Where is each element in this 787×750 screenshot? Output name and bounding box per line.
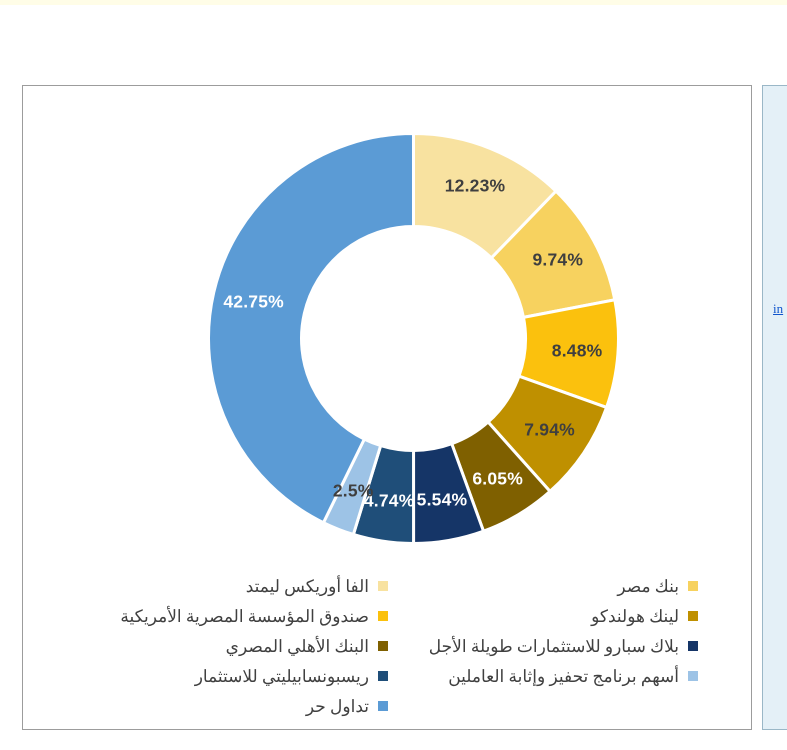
legend-item[interactable]: بلاك سبارو للاستثمارات طويلة الأجل	[408, 631, 698, 661]
legend-item[interactable]: لينك هولندكو	[408, 601, 698, 631]
legend-item-label: تداول حر	[306, 698, 369, 715]
legend-item-label: أسهم برنامج تحفيز وإثابة العاملين	[448, 668, 679, 685]
legend-swatch-icon	[688, 581, 698, 591]
legend-swatch-icon	[378, 581, 388, 591]
top-strip	[0, 0, 787, 5]
legend-item-label: البنك الأهلي المصري	[226, 638, 369, 655]
legend-item[interactable]: البنك الأهلي المصري	[78, 631, 388, 661]
legend-item-label: لينك هولندكو	[591, 608, 679, 625]
legend-item[interactable]: ريسبونسابيليتي للاستثمار	[78, 661, 388, 691]
chart-card: 12.23%9.74%8.48%7.94%6.05%5.54%4.74%2.5%…	[22, 85, 752, 730]
legend-swatch-icon	[688, 671, 698, 681]
legend-item-label: ريسبونسابيليتي للاستثمار	[195, 668, 369, 685]
legend-swatch-icon	[378, 671, 388, 681]
legend-swatch-icon	[378, 641, 388, 651]
donut-svg	[206, 131, 621, 546]
legend-item[interactable]: صندوق المؤسسة المصرية الأمريكية	[78, 601, 388, 631]
legend-swatch-icon	[688, 641, 698, 651]
legend-column-right: بنك مصرلينك هولندكوبلاك سبارو للاستثمارا…	[408, 571, 698, 691]
screenshot-root: 12.23%9.74%8.48%7.94%6.05%5.54%4.74%2.5%…	[0, 0, 787, 750]
legend-item-label: الفا أوريكس ليمتد	[246, 578, 369, 595]
side-panel-link[interactable]: in	[773, 301, 783, 317]
legend-swatch-icon	[378, 611, 388, 621]
legend-item-label: صندوق المؤسسة المصرية الأمريكية	[120, 608, 369, 625]
legend-item-label: بلاك سبارو للاستثمارات طويلة الأجل	[429, 638, 679, 655]
donut-graphic	[206, 131, 621, 546]
legend-column-left: الفا أوريكس ليمتدصندوق المؤسسة المصرية ا…	[78, 571, 388, 721]
legend-swatch-icon	[378, 701, 388, 711]
side-panel: in	[762, 85, 787, 730]
legend-item[interactable]: بنك مصر	[408, 571, 698, 601]
donut-chart: 12.23%9.74%8.48%7.94%6.05%5.54%4.74%2.5%…	[158, 131, 618, 551]
chart-legend: بنك مصرلينك هولندكوبلاك سبارو للاستثمارا…	[78, 571, 698, 716]
legend-item[interactable]: أسهم برنامج تحفيز وإثابة العاملين	[408, 661, 698, 691]
legend-item[interactable]: الفا أوريكس ليمتد	[78, 571, 388, 601]
legend-item[interactable]: تداول حر	[78, 691, 388, 721]
legend-swatch-icon	[688, 611, 698, 621]
legend-item-label: بنك مصر	[617, 578, 679, 595]
